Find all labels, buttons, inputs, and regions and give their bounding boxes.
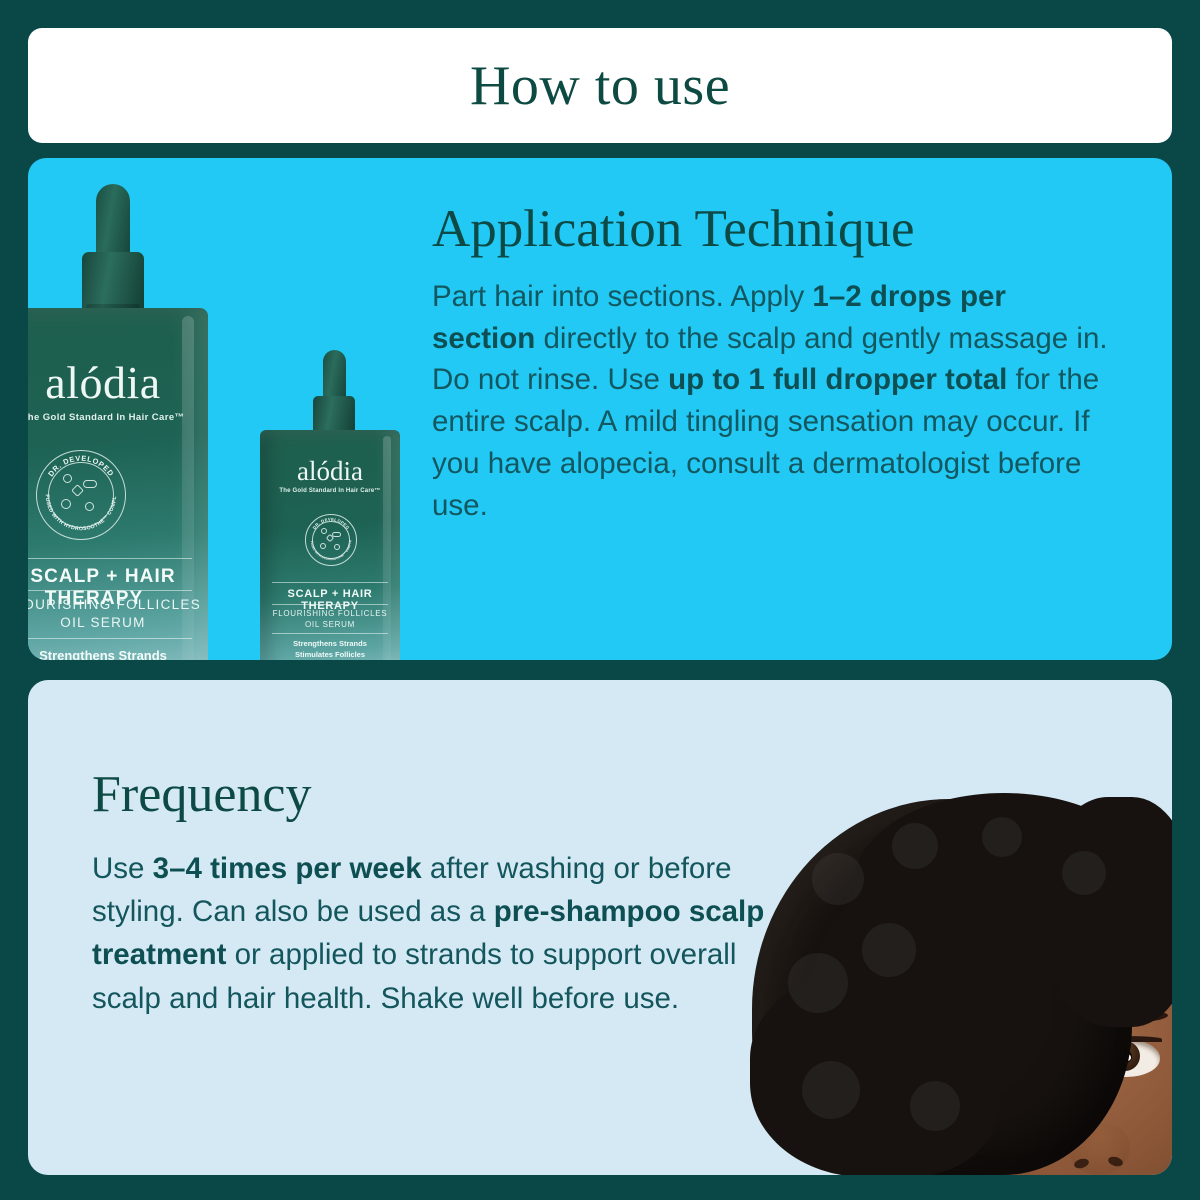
label-divider xyxy=(272,604,388,605)
frequency-panel: Frequency Use 3–4 times per week after w… xyxy=(28,680,1172,1175)
application-technique-body: Part hair into sections. Apply 1–2 drops… xyxy=(432,276,1112,527)
model-photo xyxy=(742,793,1172,1175)
frequency-copy: Frequency Use 3–4 times per week after w… xyxy=(92,768,792,1020)
dropper-bulb-large xyxy=(96,184,130,258)
header-card: How to use xyxy=(28,28,1172,143)
seal-curved-text: DR. DEVELOPED INFUSED WITH HYDROSOOTHE™ … xyxy=(37,451,125,539)
hydrosoothe-seal-small-icon: DR. DEVELOPED INFUSED WITH HYDROSOOTHE™ … xyxy=(305,514,357,566)
bottle-product-type-small: FLOURISHING FOLLICLES OIL SERUM xyxy=(260,608,400,630)
product-type-line-2: OIL SERUM xyxy=(260,619,400,630)
product-bottles-image: alódia The Gold Standard In Hair Care™ D… xyxy=(28,158,428,660)
benefit-item: Stimulates Follicles xyxy=(260,649,400,660)
frequency-body: Use 3–4 times per week after washing or … xyxy=(92,847,792,1020)
bottle-benefits-large: Strengthens Strands Stimulates Follicles… xyxy=(28,646,208,660)
dropper-cap-small-icon xyxy=(313,350,355,440)
label-divider xyxy=(272,582,388,583)
product-bottle-large: alódia The Gold Standard In Hair Care™ D… xyxy=(28,308,208,660)
bottle-brand-large: alódia xyxy=(28,360,208,406)
hair-curl xyxy=(892,823,938,869)
hair-curl xyxy=(802,1061,860,1119)
benefit-item: Strengthens Strands xyxy=(28,646,208,660)
body-segment-bold: up to 1 full dropper total xyxy=(668,363,1007,396)
page-title: How to use xyxy=(470,58,730,114)
label-divider xyxy=(28,638,192,639)
seal-top-text-small: DR. DEVELOPED xyxy=(312,517,351,531)
bottle-tagline-small: The Gold Standard In Hair Care™ xyxy=(260,488,400,494)
body-segment: Part hair into sections. Apply xyxy=(432,280,812,313)
dropper-cap-large-icon xyxy=(82,184,144,320)
hair-curl xyxy=(910,1081,960,1131)
dropper-bulb-small xyxy=(323,350,346,400)
product-bottle-small: alódia The Gold Standard In Hair Care™ D… xyxy=(260,430,400,660)
hair-curl xyxy=(1062,851,1106,895)
hair-curl xyxy=(788,953,848,1013)
benefit-item: Strengthens Strands xyxy=(260,638,400,649)
application-technique-panel: alódia The Gold Standard In Hair Care™ D… xyxy=(28,158,1172,660)
svg-text:DR. DEVELOPED: DR. DEVELOPED xyxy=(46,454,116,478)
product-type-line-2: OIL SERUM xyxy=(28,614,208,632)
body-segment: Use xyxy=(92,852,153,885)
seal-curved-text-small: DR. DEVELOPED INFUSED WITH HYDROSOOTHE™ … xyxy=(306,515,356,565)
product-type-line-1: FLOURISHING FOLLICLES xyxy=(28,596,208,614)
hydrosoothe-seal-icon: DR. DEVELOPED INFUSED WITH HYDROSOOTHE™ … xyxy=(36,450,126,540)
body-segment-bold: 3–4 times per week xyxy=(153,852,422,885)
label-divider xyxy=(272,633,388,634)
svg-text:DR. DEVELOPED: DR. DEVELOPED xyxy=(312,517,351,531)
bottle-tagline-large: The Gold Standard In Hair Care™ xyxy=(28,412,208,423)
application-technique-copy: Application Technique Part hair into sec… xyxy=(432,202,1112,527)
bottle-brand-small: alódia xyxy=(260,458,400,485)
bottle-benefits-small: Strengthens Strands Stimulates Follicles… xyxy=(260,638,400,660)
frequency-heading: Frequency xyxy=(92,768,792,823)
hair-curl xyxy=(982,817,1022,857)
hair-curl xyxy=(862,923,916,977)
model-hair-left xyxy=(750,973,1000,1175)
label-divider xyxy=(28,558,192,559)
product-type-line-1: FLOURISHING FOLLICLES xyxy=(260,608,400,619)
application-technique-heading: Application Technique xyxy=(432,202,1112,258)
hair-curl xyxy=(812,853,864,905)
seal-top-text: DR. DEVELOPED xyxy=(46,454,116,478)
model-hair-right xyxy=(1042,797,1172,1027)
bottle-product-type-large: FLOURISHING FOLLICLES OIL SERUM xyxy=(28,596,208,632)
label-divider xyxy=(28,590,192,591)
